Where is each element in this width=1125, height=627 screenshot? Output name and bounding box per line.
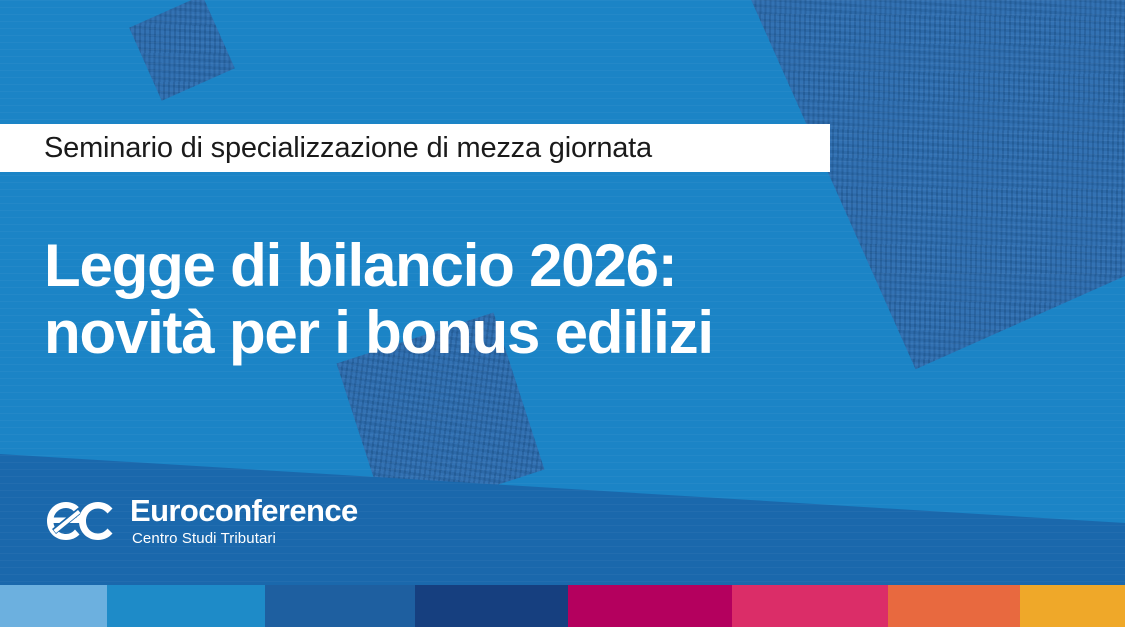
title-line-1: Legge di bilancio 2026: (44, 232, 944, 299)
brand-color-strip (0, 585, 1125, 627)
eyebrow-label: Seminario di specializzazione di mezza g… (44, 132, 652, 165)
ec-monogram-icon (44, 498, 116, 544)
eyebrow-banner: Seminario di specializzazione di mezza g… (0, 124, 830, 172)
color-strip-magenta (568, 585, 732, 627)
logo-wordmark: Euroconference Centro Studi Tributari (130, 495, 358, 546)
color-strip-navy-blue (415, 585, 568, 627)
color-strip-amber (1020, 585, 1125, 627)
logo-tagline: Centro Studi Tributari (132, 531, 358, 546)
color-strip-pink (732, 585, 888, 627)
color-strip-light-blue (0, 585, 107, 627)
euroconference-logo: Euroconference Centro Studi Tributari (44, 495, 358, 546)
page-title: Legge di bilancio 2026: novità per i bon… (44, 232, 944, 366)
color-strip-medium-blue (265, 585, 415, 627)
color-strip-cyan-blue (107, 585, 265, 627)
logo-brand-name: Euroconference (130, 495, 358, 526)
event-promo-banner: Seminario di specializzazione di mezza g… (0, 0, 1125, 627)
title-line-2: novità per i bonus edilizi (44, 299, 944, 366)
color-strip-orange (888, 585, 1020, 627)
